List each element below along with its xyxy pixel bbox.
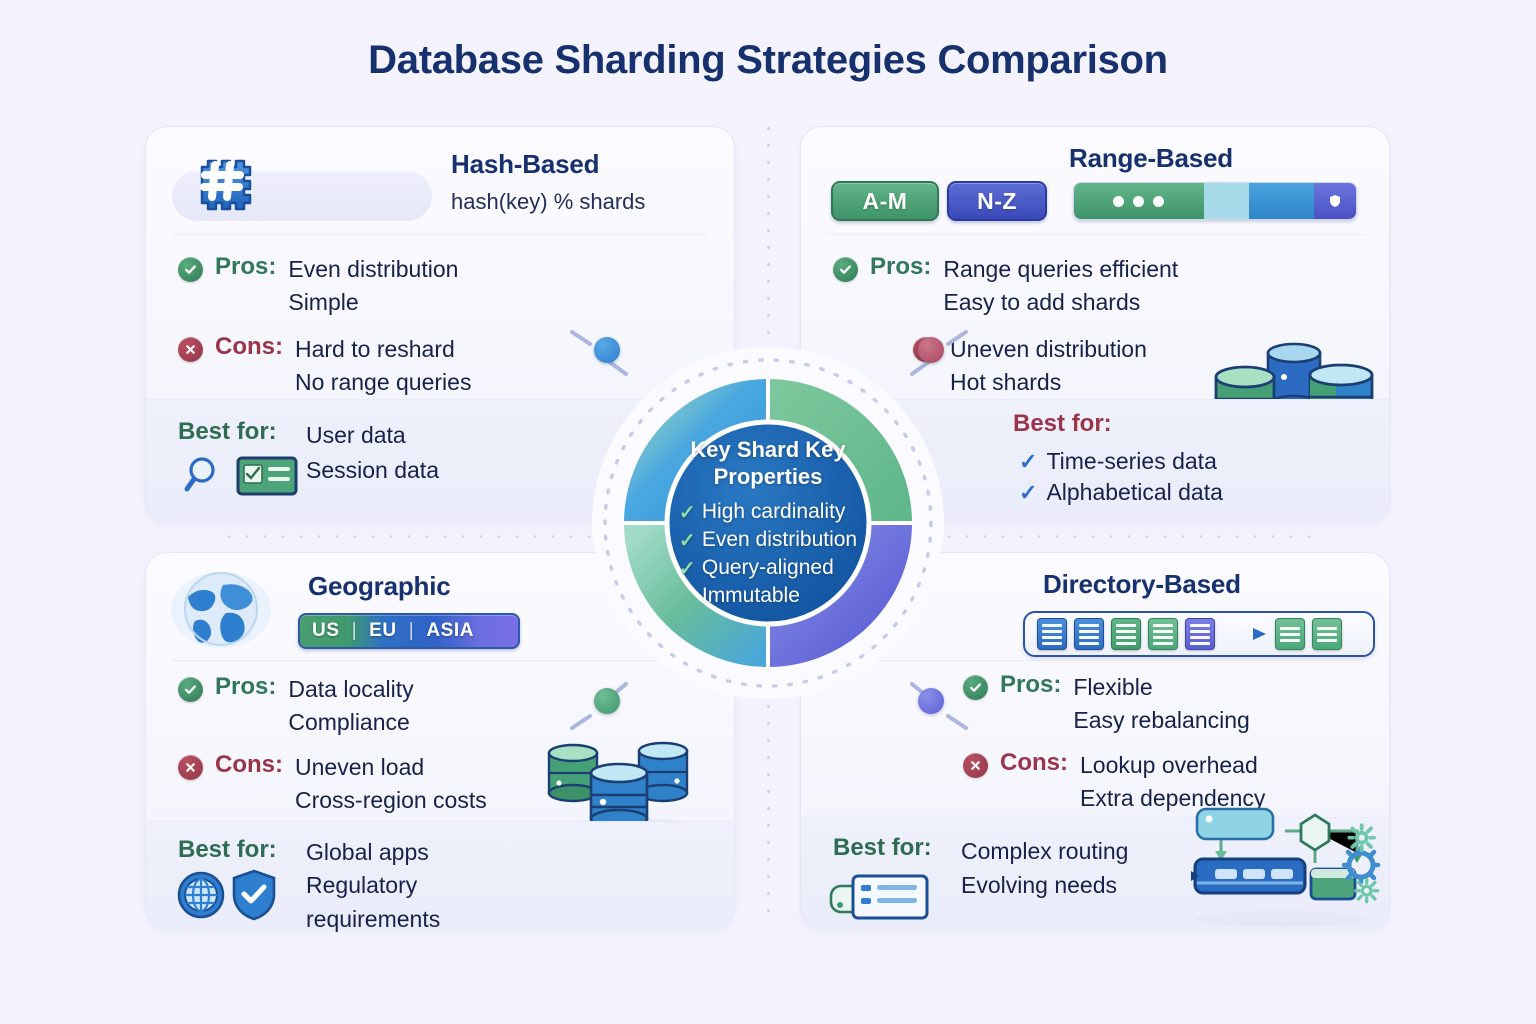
list-item: ✓ Alphabetical data — [1019, 479, 1223, 506]
hash-chip-icon — [188, 145, 260, 222]
card-geo-title: Geographic — [308, 571, 450, 602]
geo-separator: | — [352, 620, 358, 642]
doc-icon-out-1 — [1275, 618, 1305, 650]
document-routing-icon — [1023, 611, 1375, 657]
card-hash-title: Hash-Based — [451, 149, 599, 180]
list-item: Simple — [288, 286, 458, 319]
card-dir-title: Directory-Based — [1043, 569, 1241, 600]
list-item: requirements — [306, 903, 440, 936]
list-item: Hard to reshard — [295, 333, 471, 366]
hash-pros-label: Pros: — [215, 253, 276, 281]
range-seg-b — [1204, 183, 1249, 219]
range-pros-label: Pros: — [870, 253, 931, 281]
geo-region-us: US — [300, 620, 352, 642]
range-shard-bar — [1073, 182, 1357, 220]
geo-pros-values: Data locality Compliance — [288, 673, 413, 738]
list-item: Regulatory — [306, 869, 440, 902]
card-hash-header: Hash-Based hash(key) % shards — [146, 127, 734, 235]
range-seg-d — [1314, 183, 1356, 219]
list-item: Session data — [306, 453, 439, 488]
list-item: Evolving needs — [961, 868, 1128, 902]
hash-cons-values: Hard to reshard No range queries — [295, 333, 471, 398]
hash-best-for-label: Best for: — [178, 418, 277, 446]
geo-pros-row: Pros: Data locality Compliance — [178, 673, 414, 738]
list-item: Easy rebalancing — [1073, 704, 1249, 737]
dir-pros-row: Pros: Flexible Easy rebalancing — [963, 671, 1250, 736]
list-item: No range queries — [295, 366, 471, 399]
hash-pros-values: Even distribution Simple — [288, 253, 458, 318]
routing-topology-icon — [1181, 803, 1381, 932]
geo-best-for-label: Best for: — [178, 836, 277, 864]
list-item: Easy to add shards — [943, 286, 1178, 319]
x-circle-icon — [963, 753, 988, 778]
connector-node-geo — [594, 688, 620, 714]
geo-cons-row: Cons: Uneven load Cross-region costs — [178, 751, 487, 816]
hash-pros-row: Pros: Even distribution Simple — [178, 253, 458, 318]
geo-region-eu: EU — [357, 620, 409, 642]
doc-icon-green-1 — [1111, 618, 1141, 650]
dir-best-for-values: Complex routing Evolving needs — [961, 834, 1128, 902]
list-item: Data locality — [288, 673, 413, 706]
hash-cons-label: Cons: — [215, 333, 283, 361]
doc-icon-blue-1 — [1037, 618, 1067, 650]
page-title: Database Sharding Strategies Comparison — [0, 38, 1536, 83]
range-pill-a-m: A-M — [831, 181, 939, 221]
range-seg-a — [1074, 183, 1204, 219]
globe-icon — [168, 569, 274, 656]
x-circle-icon — [178, 755, 203, 780]
card-hash-formula: hash(key) % shards — [451, 189, 645, 215]
range-best-for-values: ✓ Time-series data ✓ Alphabetical data — [1019, 448, 1223, 506]
list-item: Flexible — [1073, 671, 1249, 704]
card-range-header: Range-Based A-M N-Z — [801, 127, 1389, 235]
shield-glyph-icon — [1327, 193, 1343, 209]
geo-region-badge: US | EU | ASIA — [298, 613, 520, 649]
globe-outline-icon — [176, 870, 226, 925]
check-icon: ✓ — [1019, 482, 1037, 504]
list-item: Lookup overhead — [1080, 749, 1265, 782]
range-pros-values: Range queries efficient Easy to add shar… — [943, 253, 1178, 318]
geo-cons-values: Uneven load Cross-region costs — [295, 751, 487, 816]
arrow-right-icon — [1222, 627, 1268, 641]
doc-icon-green-2 — [1148, 618, 1178, 650]
check-circle-icon — [178, 257, 203, 282]
range-pill-n-z: N-Z — [947, 181, 1047, 221]
geo-best-for-values: Global apps Regulatory requirements — [306, 836, 440, 936]
list-item: Cross-region costs — [295, 784, 487, 817]
dir-pros-label: Pros: — [1000, 671, 1061, 699]
connector-node-range — [918, 337, 944, 363]
infographic-canvas: Database Sharding Strategies Comparison … — [0, 0, 1536, 1024]
geo-best-for-band: Best for: Global apps Regulatory require… — [146, 821, 734, 931]
doc-icon-out-2 — [1312, 618, 1342, 650]
dot-icon — [1113, 196, 1124, 207]
lookup-table-icon — [827, 872, 935, 927]
dir-cons-label: Cons: — [1000, 749, 1068, 777]
list-item: User data — [306, 418, 439, 453]
hash-cons-row: Cons: Hard to reshard No range queries — [178, 333, 471, 398]
geo-region-asia: ASIA — [414, 620, 486, 642]
geo-cons-label: Cons: — [215, 751, 283, 779]
doc-icon-blue-2 — [1074, 618, 1104, 650]
list-item: Uneven load — [295, 751, 487, 784]
list-item: Global apps — [306, 836, 440, 869]
list-item: Compliance — [288, 706, 413, 739]
range-best-for-label: Best for: — [1013, 410, 1112, 438]
doc-icon-purple — [1185, 618, 1215, 650]
list-item: Range queries efficient — [943, 253, 1178, 286]
green-list-icon — [236, 456, 298, 501]
geo-separator: | — [409, 620, 415, 642]
dot-icon — [1153, 196, 1164, 207]
range-pros-row: Pros: Range queries efficient Easy to ad… — [833, 253, 1178, 318]
hub-donut-chart — [548, 343, 988, 703]
dir-best-for-label: Best for: — [833, 834, 932, 862]
geo-pros-label: Pros: — [215, 673, 276, 701]
list-item: Complex routing — [961, 834, 1128, 868]
center-hub: Key Shard Key Properties ✓ High cardinal… — [548, 343, 988, 703]
check-circle-icon — [178, 677, 203, 702]
shield-check-icon — [230, 868, 278, 927]
range-seg-c — [1249, 183, 1314, 219]
connector-node-dir — [918, 688, 944, 714]
check-icon: ✓ — [1019, 451, 1037, 473]
dot-icon — [1133, 196, 1144, 207]
magnifier-icon — [182, 452, 228, 503]
x-circle-icon — [178, 337, 203, 362]
dir-pros-values: Flexible Easy rebalancing — [1073, 671, 1249, 736]
list-item: Even distribution — [288, 253, 458, 286]
check-circle-icon — [833, 257, 858, 282]
connector-node-hash — [594, 337, 620, 363]
hash-best-for-values: User data Session data — [306, 418, 439, 487]
list-item: ✓ Time-series data — [1019, 448, 1223, 475]
card-range-title: Range-Based — [1069, 143, 1233, 174]
